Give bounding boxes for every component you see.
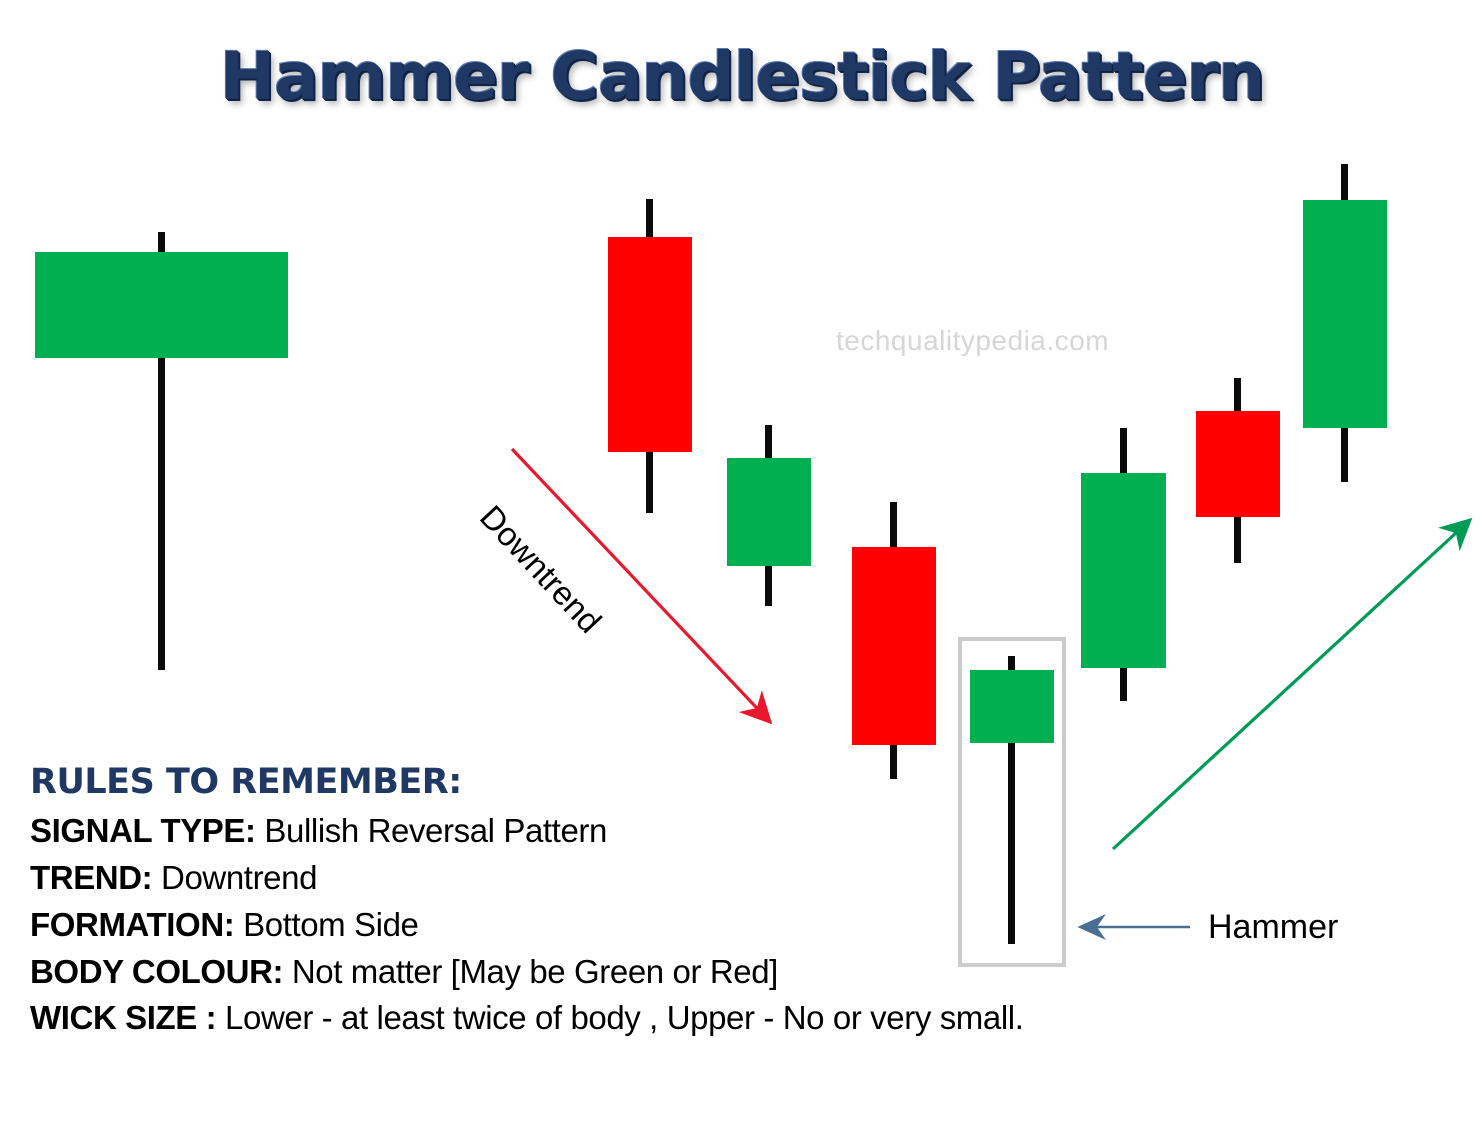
rules-block: RULES TO REMEMBER: SIGNAL TYPE: Bullish … — [30, 762, 1290, 1042]
rule-label: TREND: — [30, 859, 152, 896]
rule-value: Bottom Side — [234, 906, 418, 943]
page-title: Hammer Candlestick Pattern — [0, 38, 1484, 115]
candle-body-bearish — [1196, 411, 1280, 517]
rule-trend: TREND: Downtrend — [30, 855, 1290, 902]
rule-value: Bullish Reversal Pattern — [256, 812, 607, 849]
rule-value: Not matter [May be Green or Red] — [283, 953, 778, 990]
candle-body-bearish — [852, 547, 936, 745]
watermark-text: techqualitypedia.com — [836, 325, 1109, 357]
candle-body-bullish — [970, 670, 1054, 743]
downtrend-label: Downtrend — [472, 498, 609, 641]
rule-value: Downtrend — [152, 859, 317, 896]
rule-value: Lower - at least twice of body , Upper -… — [216, 999, 1023, 1036]
rule-label: BODY COLOUR: — [30, 953, 283, 990]
infographic-canvas: Hammer Candlestick Pattern techqualitype… — [0, 0, 1484, 1127]
rule-label: WICK SIZE : — [30, 999, 216, 1036]
candle-body-bullish — [727, 458, 811, 566]
candle-body-bearish — [608, 237, 692, 452]
rule-wick-size: WICK SIZE : Lower - at least twice of bo… — [30, 995, 1290, 1042]
rules-heading: RULES TO REMEMBER: — [30, 762, 1290, 802]
rule-label: SIGNAL TYPE: — [30, 812, 256, 849]
rule-body-colour: BODY COLOUR: Not matter [May be Green or… — [30, 949, 1290, 996]
rule-label: FORMATION: — [30, 906, 234, 943]
candle-body-bullish — [1303, 200, 1387, 428]
candle-body-bullish — [1081, 473, 1166, 668]
candle-body-bullish — [35, 252, 288, 358]
rule-signal-type: SIGNAL TYPE: Bullish Reversal Pattern — [30, 808, 1290, 855]
rule-formation: FORMATION: Bottom Side — [30, 902, 1290, 949]
